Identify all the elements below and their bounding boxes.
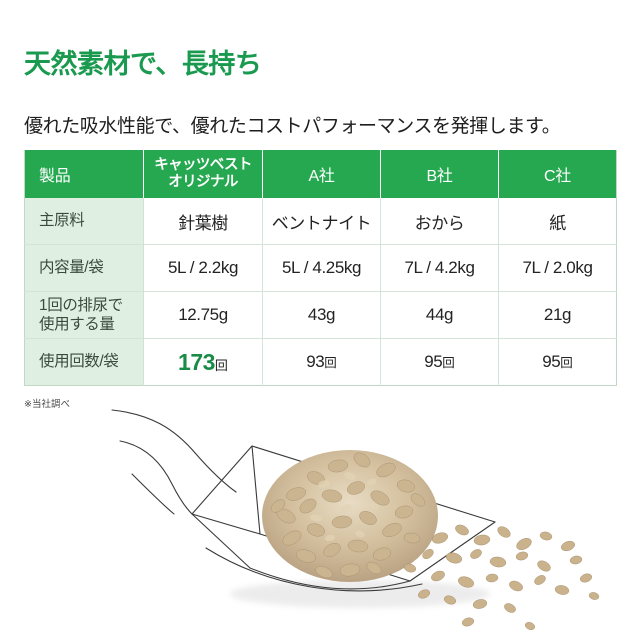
cell-own-volume: 5L / 2.2kg: [144, 245, 263, 292]
row-label-main-material: 主原料: [25, 198, 144, 245]
cell-b-amount: 44g: [381, 292, 499, 339]
cell-own-uses-value: 173: [178, 349, 215, 375]
cell-a-uses-value: 93: [306, 352, 324, 371]
column-header-own-product: キャッツベスト オリジナル: [144, 150, 263, 198]
cell-c-amount: 21g: [499, 292, 617, 339]
cell-c-volume: 7L / 2.0kg: [499, 245, 617, 292]
pellet-mound: [262, 450, 438, 582]
column-header-company-a: A社: [263, 150, 381, 198]
row-label-text-line2: 使用する量: [39, 315, 139, 334]
column-header-own-product-line1: キャッツベスト: [154, 157, 252, 173]
page-title: 天然素材で、長持ち: [24, 49, 261, 80]
column-header-company-b: B社: [381, 150, 499, 198]
row-label-text: 使用回数/袋: [39, 353, 118, 370]
product-comparison-page: 天然素材で、長持ち 優れた吸水性能で、優れたコストパフォーマンスを発揮します。 …: [0, 0, 640, 640]
cell-b-main-material: おから: [381, 198, 499, 245]
table-body: 主原料 針葉樹 ベントナイト おから 紙 内容量/袋 5L / 2.2kg 5L…: [25, 198, 617, 386]
cell-b-uses-value: 95: [424, 352, 442, 371]
spec-table-wrapper: 製品 キャッツベスト オリジナル A社 B社 C社 主原料 針葉樹 ベント: [24, 150, 616, 386]
table-header: 製品 キャッツベスト オリジナル A社 B社 C社: [25, 150, 617, 198]
cell-a-amount: 43g: [263, 292, 381, 339]
spec-comparison-table: 製品 キャッツベスト オリジナル A社 B社 C社 主原料 針葉樹 ベント: [24, 150, 617, 386]
cell-own-main-material: 針葉樹: [144, 198, 263, 245]
row-label-uses-per-bag: 使用回数/袋: [25, 339, 144, 386]
cat-litter-scoop-illustration: [110, 398, 630, 636]
cell-own-amount: 12.75g: [144, 292, 263, 339]
table-row: 主原料 針葉樹 ベントナイト おから 紙: [25, 198, 617, 245]
column-header-company-c: C社: [499, 150, 617, 198]
table-row: 使用回数/袋 173回 93回 95回 95回: [25, 339, 617, 386]
page-subtitle: 優れた吸水性能で、優れたコストパフォーマンスを発揮します。: [24, 116, 560, 139]
cell-c-uses-value: 95: [542, 352, 560, 371]
cell-own-uses: 173回: [144, 339, 263, 386]
row-label-text: 主原料: [39, 212, 84, 229]
cell-a-uses: 93回: [263, 339, 381, 386]
cell-a-main-material: ベントナイト: [263, 198, 381, 245]
table-header-row: 製品 キャッツベスト オリジナル A社 B社 C社: [25, 150, 617, 198]
row-label-volume-per-bag: 内容量/袋: [25, 245, 144, 292]
product-illustration: [110, 398, 630, 636]
cell-own-uses-unit: 回: [215, 358, 228, 373]
column-header-own-product-line2: オリジナル: [168, 174, 238, 190]
footnote-disclaimer: ※当社調べ: [24, 396, 70, 410]
cell-a-volume: 5L / 4.25kg: [263, 245, 381, 292]
row-label-text-line1: 1回の排尿で: [39, 297, 123, 314]
cell-c-uses: 95回: [499, 339, 617, 386]
row-label-text: 内容量/袋: [39, 259, 103, 276]
column-header-product: 製品: [25, 150, 144, 198]
table-row: 1回の排尿で 使用する量 12.75g 43g 44g 21g: [25, 292, 617, 339]
scattered-pellets: [403, 523, 600, 631]
cell-b-volume: 7L / 4.2kg: [381, 245, 499, 292]
cell-b-uses-unit: 回: [442, 356, 455, 370]
cell-c-uses-unit: 回: [560, 356, 573, 370]
cell-b-uses: 95回: [381, 339, 499, 386]
row-label-amount-per-urination: 1回の排尿で 使用する量: [25, 292, 144, 339]
table-row: 内容量/袋 5L / 2.2kg 5L / 4.25kg 7L / 4.2kg …: [25, 245, 617, 292]
cell-c-main-material: 紙: [499, 198, 617, 245]
cell-a-uses-unit: 回: [324, 356, 337, 370]
